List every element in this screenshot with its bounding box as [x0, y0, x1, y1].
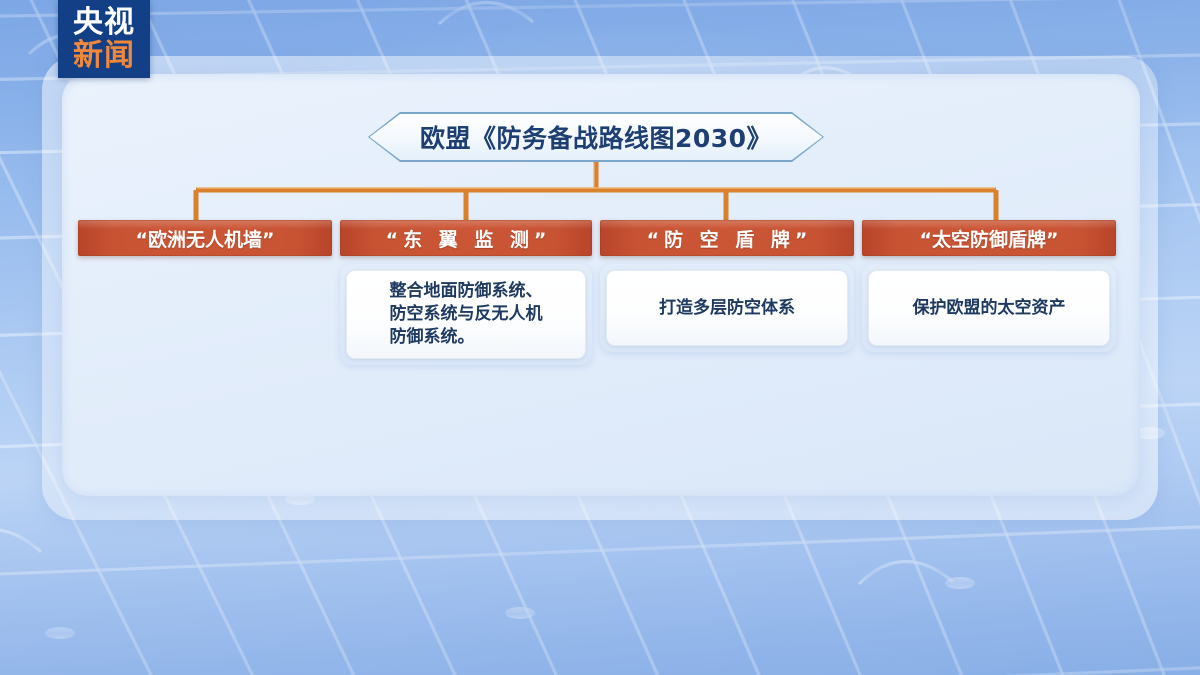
- branch-space-defence-shield: “太空防御盾牌” 保护欧盟的太空资产: [862, 220, 1116, 352]
- branch-header-air-defence-shield: “防 空 盾 牌”: [600, 220, 854, 256]
- branch-header-eastern-flank-watch: “东 翼 监 测”: [340, 220, 592, 256]
- branch-card-text: 整合地面防御系统、 防空系统与反无人机 防御系统。: [390, 280, 543, 349]
- logo-line-1: 央视: [73, 7, 135, 39]
- title-banner: 欧盟《防务备战路线图2030》: [368, 112, 824, 162]
- branch-air-defence-shield: “防 空 盾 牌” 打造多层防空体系: [600, 220, 854, 352]
- infographic-stage: 央视 新闻 欧盟《防务备战路线图2030》 “欧洲无人机墙”: [0, 0, 1200, 675]
- branch-header-european-drone-wall: “欧洲无人机墙”: [78, 220, 332, 256]
- page-title: 欧盟《防务备战路线图2030》: [368, 112, 824, 162]
- branch-european-drone-wall: “欧洲无人机墙”: [78, 220, 332, 256]
- branch-body-eastern-flank-watch: 整合地面防御系统、 防空系统与反无人机 防御系统。: [340, 264, 592, 365]
- branch-body-air-defence-shield: 打造多层防空体系: [600, 264, 854, 352]
- branch-header-label: “防 空 盾 牌”: [642, 225, 813, 252]
- branch-header-label: “欧洲无人机墙”: [136, 225, 275, 252]
- branch-card: 保护欧盟的太空资产: [868, 270, 1110, 346]
- branch-card-text: 打造多层防空体系: [659, 297, 795, 320]
- branch-header-label: “东 翼 监 测”: [381, 225, 552, 252]
- branch-body-space-defence-shield: 保护欧盟的太空资产: [862, 264, 1116, 352]
- branch-card: 整合地面防御系统、 防空系统与反无人机 防御系统。: [346, 270, 586, 359]
- branch-header-space-defence-shield: “太空防御盾牌”: [862, 220, 1116, 256]
- logo-line-2: 新闻: [73, 40, 135, 72]
- branch-header-label: “太空防御盾牌”: [920, 225, 1059, 252]
- branch-card-text: 保护欧盟的太空资产: [913, 297, 1066, 320]
- branch-card: 打造多层防空体系: [606, 270, 848, 346]
- branch-eastern-flank-watch: “东 翼 监 测” 整合地面防御系统、 防空系统与反无人机 防御系统。: [340, 220, 592, 365]
- cctv-news-logo: 央视 新闻: [58, 0, 150, 78]
